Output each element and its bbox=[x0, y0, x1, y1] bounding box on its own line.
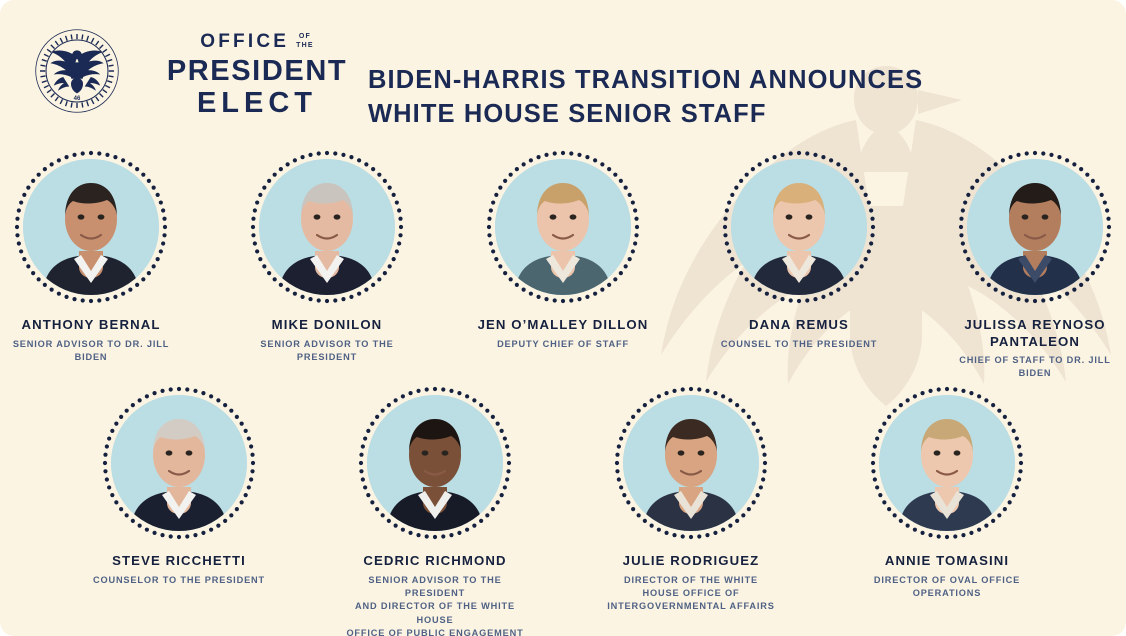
headline-line-2: WHITE HOUSE SENIOR STAFF bbox=[368, 98, 923, 132]
staff-card: JULIE RODRIGUEZDIRECTOR OF THE WHITE HOU… bbox=[590, 384, 792, 614]
staff-row-2: STEVE RICCHETTICOUNSELOR TO THE PRESIDEN… bbox=[0, 384, 1126, 636]
staff-portrait-frame bbox=[12, 148, 170, 306]
staff-card: CEDRIC RICHMONDSENIOR ADVISOR TO THE PRE… bbox=[334, 384, 536, 636]
staff-name: MIKE DONILON bbox=[272, 317, 383, 334]
dotted-circle-border-icon bbox=[356, 384, 514, 542]
staff-portrait-frame bbox=[100, 384, 258, 542]
staff-card: JEN O’MALLEY DILLONDEPUTY CHIEF OF STAFF bbox=[472, 148, 654, 351]
dotted-circle-border-icon bbox=[868, 384, 1026, 542]
transition-announcement-poster: 46 OFFICE OF THE PRESIDENT ELECT BIDEN-H… bbox=[0, 0, 1126, 636]
dotted-circle-border-icon bbox=[956, 148, 1114, 306]
brand-the-text: THE bbox=[296, 42, 314, 51]
dotted-circle-border-icon bbox=[612, 384, 770, 542]
staff-portrait-frame bbox=[484, 148, 642, 306]
dotted-circle-border-icon bbox=[100, 384, 258, 542]
staff-name: CEDRIC RICHMOND bbox=[363, 553, 506, 570]
staff-title: DIRECTOR OF THE WHITE HOUSE OFFICE OF IN… bbox=[607, 574, 775, 614]
headline-line-1: BIDEN-HARRIS TRANSITION ANNOUNCES bbox=[368, 64, 923, 98]
staff-card: MIKE DONILONSENIOR ADVISOR TO THE PRESID… bbox=[236, 148, 418, 364]
staff-card: ANNIE TOMASINIDIRECTOR OF OVAL OFFICE OP… bbox=[846, 384, 1048, 600]
seal-number-46: 46 bbox=[74, 96, 81, 102]
staff-title: DEPUTY CHIEF OF STAFF bbox=[497, 338, 629, 351]
staff-name: STEVE RICCHETTI bbox=[112, 553, 246, 570]
staff-portrait-frame bbox=[612, 384, 770, 542]
staff-card: ANTHONY BERNALSENIOR ADVISOR TO DR. JILL… bbox=[0, 148, 182, 364]
brand-elect-text: ELECT bbox=[152, 88, 362, 119]
staff-title: CHIEF OF STAFF TO DR. JILL BIDEN bbox=[944, 354, 1126, 381]
staff-portrait-frame bbox=[868, 384, 1026, 542]
staff-name: ANTHONY BERNAL bbox=[22, 317, 161, 334]
poster-header: 46 OFFICE OF THE PRESIDENT ELECT BIDEN-H… bbox=[34, 24, 1106, 134]
brand-president-text: PRESIDENT bbox=[152, 56, 362, 87]
staff-name: JEN O’MALLEY DILLON bbox=[478, 317, 649, 334]
staff-portrait-frame bbox=[248, 148, 406, 306]
staff-title: SENIOR ADVISOR TO THE PRESIDENT AND DIRE… bbox=[337, 574, 533, 636]
dotted-circle-border-icon bbox=[484, 148, 642, 306]
staff-portrait-frame bbox=[720, 148, 878, 306]
staff-title: SENIOR ADVISOR TO THE PRESIDENT bbox=[236, 338, 418, 365]
brand-of-text: OF bbox=[299, 33, 311, 42]
staff-title: COUNSELOR TO THE PRESIDENT bbox=[93, 574, 265, 587]
dotted-circle-border-icon bbox=[248, 148, 406, 306]
staff-portrait-frame bbox=[356, 384, 514, 542]
staff-card: DANA REMUSCOUNSEL TO THE PRESIDENT bbox=[708, 148, 890, 351]
page-title: BIDEN-HARRIS TRANSITION ANNOUNCES WHITE … bbox=[368, 64, 923, 132]
brand-office-text: OFFICE bbox=[200, 32, 289, 51]
staff-title: DIRECTOR OF OVAL OFFICE OPERATIONS bbox=[849, 574, 1045, 601]
dotted-circle-border-icon bbox=[12, 148, 170, 306]
staff-name: JULISSA REYNOSO PANTALEON bbox=[964, 317, 1105, 350]
staff-name: DANA REMUS bbox=[749, 317, 849, 334]
staff-card: JULISSA REYNOSO PANTALEONCHIEF OF STAFF … bbox=[944, 148, 1126, 381]
office-of-president-elect-wordmark: OFFICE OF THE PRESIDENT ELECT bbox=[152, 32, 362, 120]
staff-title: SENIOR ADVISOR TO DR. JILL BIDEN bbox=[0, 338, 182, 365]
staff-name: ANNIE TOMASINI bbox=[885, 553, 1009, 570]
presidential-seal-icon: 46 bbox=[34, 28, 120, 114]
dotted-circle-border-icon bbox=[720, 148, 878, 306]
staff-name: JULIE RODRIGUEZ bbox=[623, 553, 760, 570]
staff-card: STEVE RICCHETTICOUNSELOR TO THE PRESIDEN… bbox=[78, 384, 280, 587]
staff-row-1: ANTHONY BERNALSENIOR ADVISOR TO DR. JILL… bbox=[0, 148, 1126, 381]
staff-title: COUNSEL TO THE PRESIDENT bbox=[721, 338, 877, 351]
staff-portrait-frame bbox=[956, 148, 1114, 306]
